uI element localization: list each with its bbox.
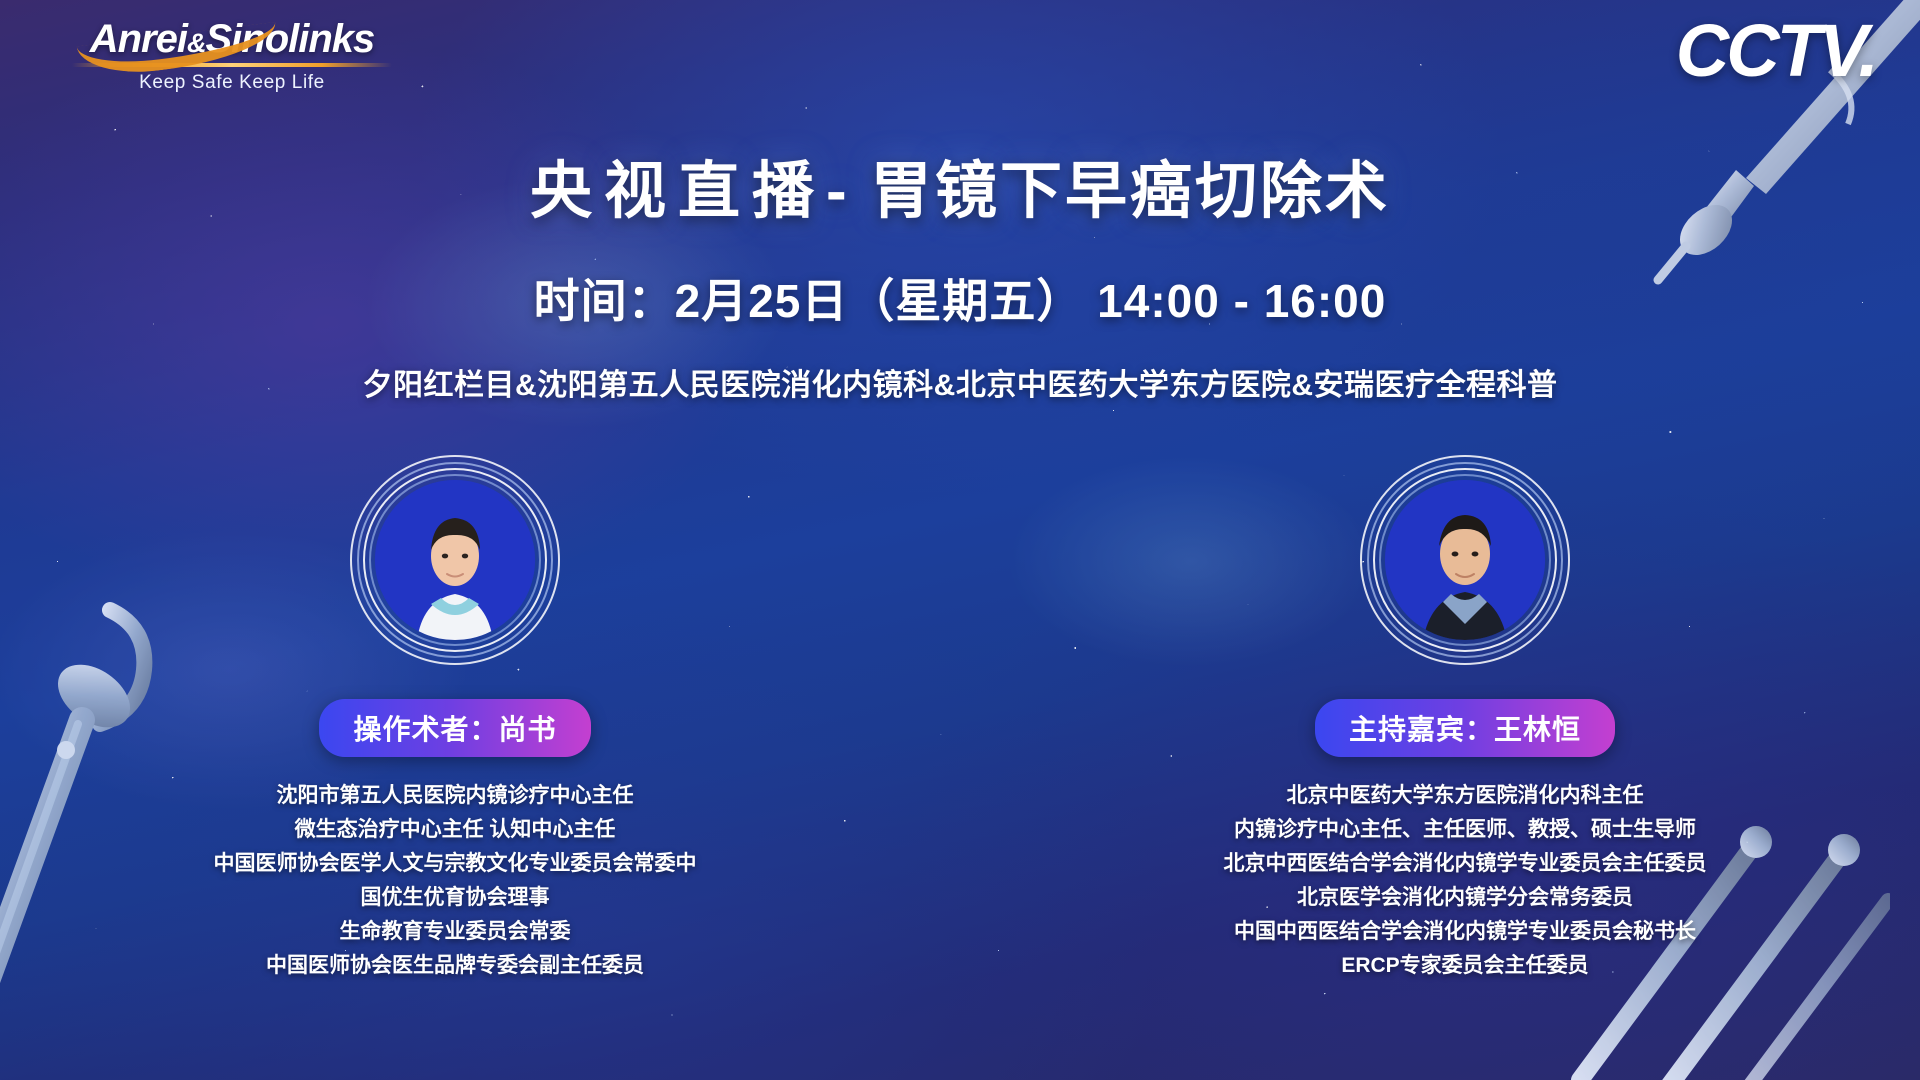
- credential-item: 北京医学会消化内镜学分会常务委员: [1224, 881, 1707, 915]
- avatar: [350, 455, 560, 665]
- person-card: 操作术者：尚书 沈阳市第五人民医院内镜诊疗中心主任 微生态治疗中心主任 认知中心…: [175, 455, 735, 983]
- credential-item: 中国医师协会医学人文与宗教文化专业委员会常委中: [214, 847, 697, 881]
- role-badge: 操作术者：尚书: [319, 699, 590, 757]
- credential-item: 内镜诊疗中心主任、主任医师、教授、硕士生导师: [1224, 813, 1707, 847]
- credential-item: ERCP专家委员会主任委员: [1224, 949, 1707, 983]
- person-card: 主持嘉宾：王林恒 北京中医药大学东方医院消化内科主任 内镜诊疗中心主任、主任医师…: [1185, 455, 1745, 983]
- avatar: [1360, 455, 1570, 665]
- avatar-photo-host: [1385, 480, 1545, 640]
- portrait-host-icon: [1385, 480, 1545, 640]
- organizations-line: 夕阳红栏目&沈阳第五人民医院消化内镜科&北京中医药大学东方医院&安瑞医疗全程科普: [0, 360, 1920, 404]
- brand-tagline: Keep Safe Keep Life: [72, 72, 392, 94]
- credentials-list: 沈阳市第五人民医院内镜诊疗中心主任 微生态治疗中心主任 认知中心主任 中国医师协…: [214, 779, 697, 983]
- page-title: 央视直播- 胃镜下早癌切除术: [0, 140, 1920, 230]
- brand-logo: Anrei&Sinolinks Keep Safe Keep Life: [72, 18, 392, 94]
- portrait-operator-icon: [375, 480, 535, 640]
- credential-item: 沈阳市第五人民医院内镜诊疗中心主任: [214, 779, 697, 813]
- cctv-logo: CCTV.: [1676, 14, 1876, 88]
- credential-item: 国优生优育协会理事: [214, 881, 697, 915]
- credential-item: 北京中医药大学东方医院消化内科主任: [1224, 779, 1707, 813]
- event-time: 时间：2月25日（星期五） 14:00 - 16:00: [0, 265, 1920, 331]
- credential-item: 生命教育专业委员会常委: [214, 915, 697, 949]
- avatar-photo-operator: [375, 480, 535, 640]
- credential-item: 中国医师协会医生品牌专委会副主任委员: [214, 949, 697, 983]
- credentials-list: 北京中医药大学东方医院消化内科主任 内镜诊疗中心主任、主任医师、教授、硕士生导师…: [1224, 779, 1707, 983]
- people-section: 操作术者：尚书 沈阳市第五人民医院内镜诊疗中心主任 微生态治疗中心主任 认知中心…: [0, 455, 1920, 983]
- poster-canvas: Anrei&Sinolinks Keep Safe Keep Life CCTV…: [0, 0, 1920, 1080]
- title-separator: -: [826, 157, 850, 226]
- credential-item: 中国中西医结合学会消化内镜学专业委员会秘书长: [1224, 915, 1707, 949]
- role-badge: 主持嘉宾：王林恒: [1315, 699, 1615, 757]
- credential-item: 北京中西医结合学会消化内镜学专业委员会主任委员: [1224, 847, 1707, 881]
- title-main: 央视直播: [530, 157, 826, 226]
- credential-item: 微生态治疗中心主任 认知中心主任: [214, 813, 697, 847]
- title-rest: 胃镜下早癌切除术: [870, 157, 1390, 226]
